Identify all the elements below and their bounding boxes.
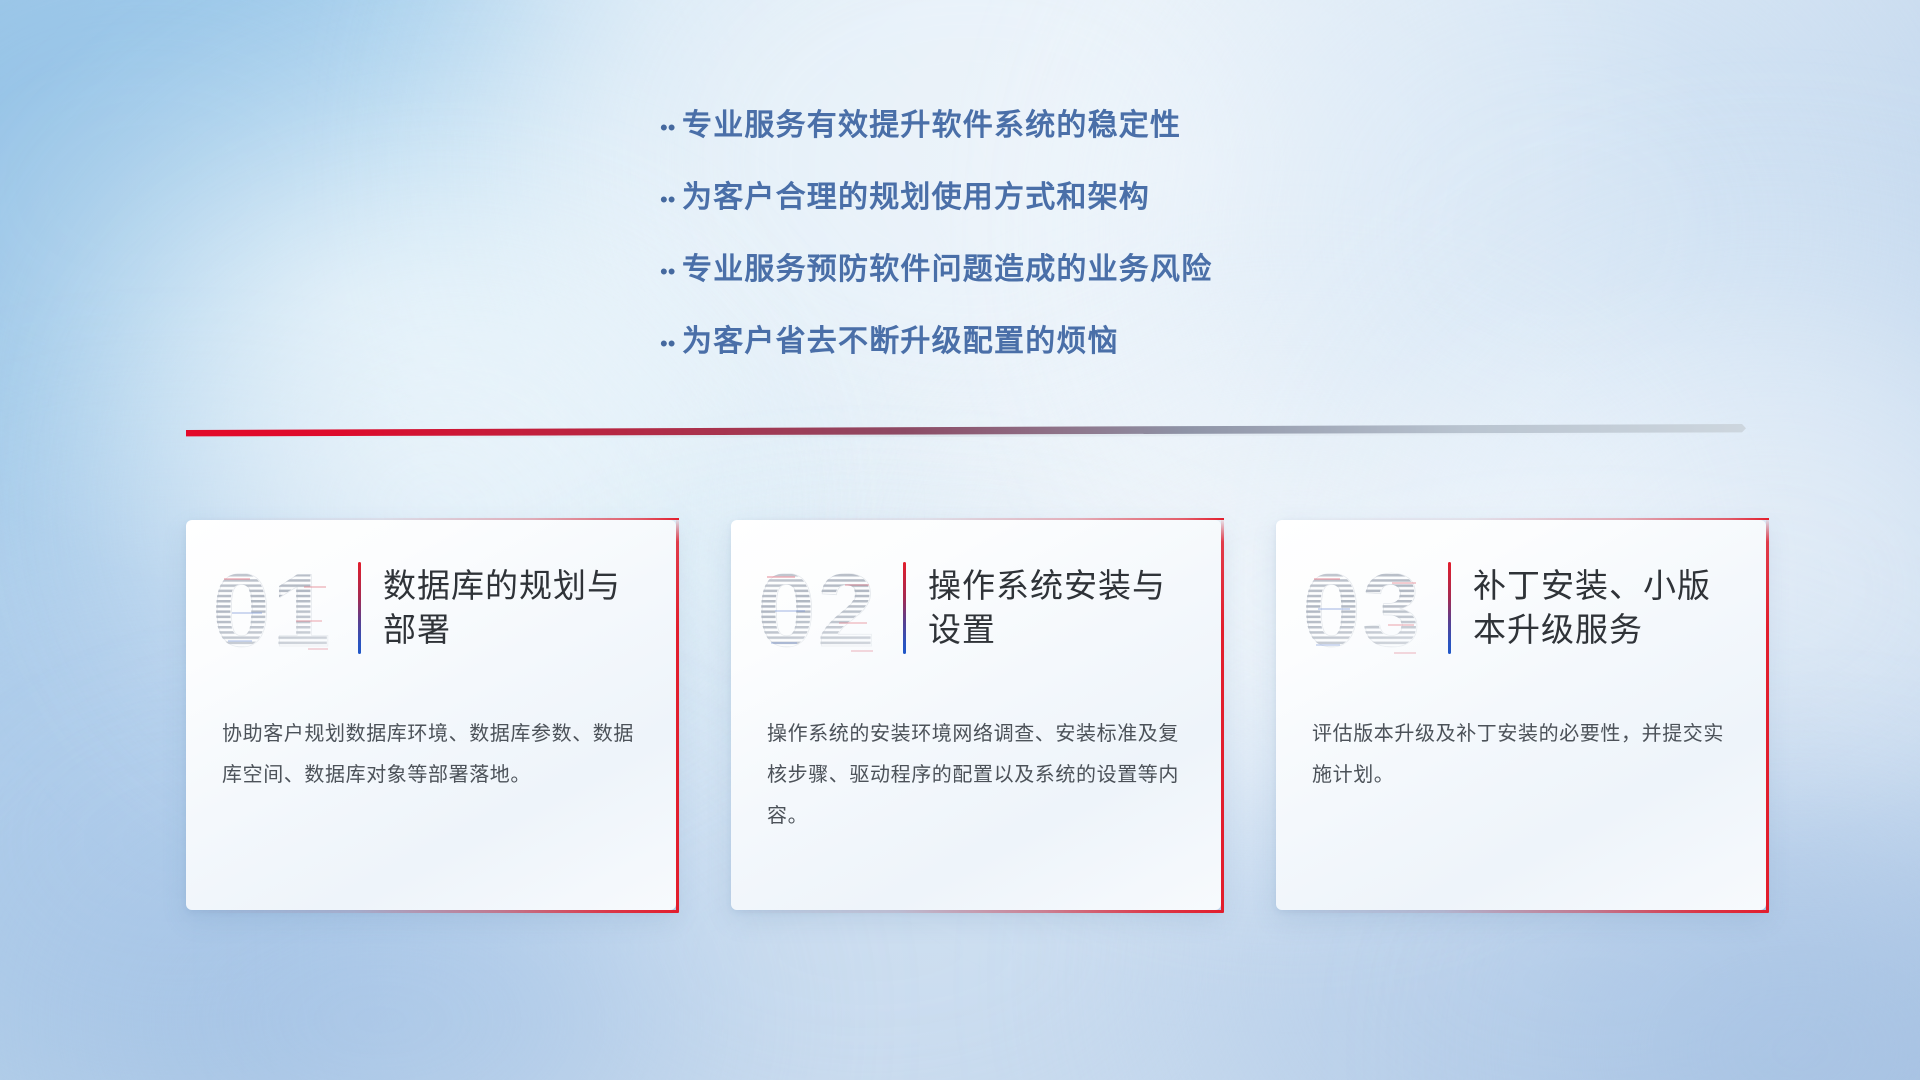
card-accent-right-edge xyxy=(1766,518,1769,913)
bullet-item-label: 为客户合理的规划使用方式和架构 xyxy=(682,180,1150,216)
card-accent-bottom-edge xyxy=(186,910,679,913)
service-card[interactable]: 01 01 数据库的规划与部署 xyxy=(186,520,676,910)
bullet-item-label: 专业服务有效提升软件系统的稳定性 xyxy=(682,108,1181,144)
card-title: 数据库的规划与部署 xyxy=(383,564,650,651)
card-accent-right-edge xyxy=(1221,518,1224,913)
bullet-item: • 专业服务有效提升软件系统的稳定性 xyxy=(660,108,1560,144)
card-accent-bottom-edge xyxy=(731,910,1224,913)
service-card[interactable]: 03 03 补丁安装、小版本升级服务 xyxy=(1276,520,1766,910)
card-title: 操作系统安装与设置 xyxy=(928,564,1195,651)
card-accent-bar xyxy=(358,562,361,654)
card-accent-bar xyxy=(903,562,906,654)
background-blob xyxy=(0,0,560,540)
bullet-marker-icon: • xyxy=(660,117,682,139)
card-number-glitch-icon: 02 02 xyxy=(753,548,893,668)
card-accent-right-edge xyxy=(676,518,679,913)
svg-text:03: 03 xyxy=(1303,553,1423,668)
bullet-marker-icon: • xyxy=(660,333,682,355)
card-description: 协助客户规划数据库环境、数据库参数、数据库空间、数据库对象等部署落地。 xyxy=(186,696,676,796)
card-accent-bar xyxy=(1448,562,1451,654)
card-accent-bottom-edge xyxy=(1276,910,1769,913)
bullet-marker-icon: • xyxy=(660,261,682,283)
card-description: 操作系统的安装环境网络调查、安装标准及复核步骤、驱动程序的配置以及系统的设置等内… xyxy=(731,696,1221,837)
bullet-item: • 专业服务预防软件问题造成的业务风险 xyxy=(660,252,1560,288)
divider-shape-icon xyxy=(186,424,1746,446)
card-description: 评估版本升级及补丁安装的必要性，并提交实施计划。 xyxy=(1276,696,1766,796)
card-number-glitch-icon: 03 03 xyxy=(1298,548,1438,668)
card-number-glitch-icon: 01 01 xyxy=(208,548,348,668)
svg-text:01: 01 xyxy=(213,553,333,668)
bullet-list: • 专业服务有效提升软件系统的稳定性 • 为客户合理的规划使用方式和架构 • 专… xyxy=(660,108,1560,396)
card-header: 02 02 操作系统安装与设置 xyxy=(731,520,1221,696)
service-card[interactable]: 02 02 操作系统安装与设置 xyxy=(731,520,1221,910)
divider xyxy=(186,424,1746,446)
card-header: 01 01 数据库的规划与部署 xyxy=(186,520,676,696)
bullet-item-label: 专业服务预防软件问题造成的业务风险 xyxy=(682,252,1212,288)
bullet-item: • 为客户合理的规划使用方式和架构 xyxy=(660,180,1560,216)
slide-root: • 专业服务有效提升软件系统的稳定性 • 为客户合理的规划使用方式和架构 • 专… xyxy=(0,0,1920,1080)
card-row: 01 01 数据库的规划与部署 xyxy=(186,520,1766,910)
bullet-item-label: 为客户省去不断升级配置的烦恼 xyxy=(682,324,1119,360)
bullet-marker-icon: • xyxy=(660,189,682,211)
card-header: 03 03 补丁安装、小版本升级服务 xyxy=(1276,520,1766,696)
card-title: 补丁安装、小版本升级服务 xyxy=(1473,564,1740,651)
bullet-item: • 为客户省去不断升级配置的烦恼 xyxy=(660,324,1560,360)
